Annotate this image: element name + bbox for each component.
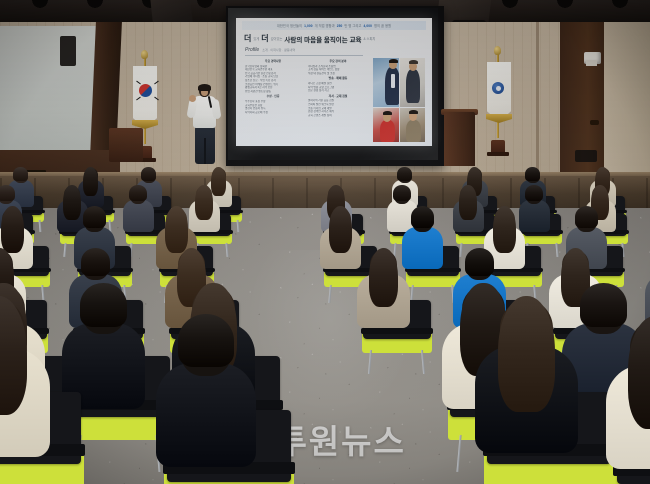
band-mid-2: 만 명 그리고 bbox=[344, 23, 361, 28]
band-mid-1: 개 직업 명함과 bbox=[315, 23, 335, 28]
column-b-line: 교육 콘텐츠 개발 참여 bbox=[308, 114, 368, 118]
audience-hair bbox=[580, 283, 626, 327]
audience-hair bbox=[498, 296, 555, 412]
presenter-hair bbox=[198, 84, 211, 91]
audience-torso bbox=[156, 363, 256, 467]
audience-hair bbox=[1, 206, 24, 252]
band-number-3: 4,000 bbox=[364, 24, 372, 28]
slide-title-a-note: 있게 bbox=[253, 36, 259, 41]
audience-hair bbox=[211, 167, 226, 196]
audience-hair bbox=[63, 185, 80, 220]
slide-title: 더 있게 더 깊이있는 사람의 마음을 움직이는 교육 & 스피치 bbox=[244, 32, 424, 45]
audience-torso bbox=[402, 227, 443, 270]
audience-hair bbox=[397, 167, 412, 181]
audience-torso bbox=[123, 200, 154, 232]
taeguk-symbol-icon bbox=[139, 84, 152, 97]
slide-column-left: 주요 경력사항 한국강사협회 정회원 대한민국 교육연수원 대표 전국 공공기관… bbox=[245, 58, 301, 114]
slide-divider bbox=[245, 55, 363, 56]
organization-emblem-icon bbox=[492, 82, 504, 94]
slide-header-band: 대한민국 청년들의 1,000 개 직업 명함과 250 만 명 그리고 4,0… bbox=[242, 21, 426, 30]
audience-hair bbox=[83, 167, 98, 196]
column-b-line: 신문 칼럼 정기 기고 bbox=[308, 89, 368, 93]
chair-rail bbox=[361, 328, 433, 334]
audience-hair bbox=[165, 206, 188, 252]
band-number-2: 250 bbox=[337, 24, 343, 28]
wall-seam-right bbox=[536, 22, 539, 172]
audience-hair bbox=[575, 206, 598, 228]
audience-hair bbox=[83, 206, 106, 228]
column-a-heading-2: 수상 · 인증 bbox=[245, 95, 301, 99]
audience-hair bbox=[465, 248, 494, 276]
audience-hair bbox=[329, 206, 352, 252]
side-table bbox=[109, 128, 143, 162]
column-a-line: 지역사회 공로패 수상 bbox=[245, 111, 301, 115]
slide-subhead-note: 소개 · 이력사항 · 활동내역 bbox=[262, 48, 295, 52]
audience-hair bbox=[129, 185, 146, 202]
slide-title-b-note: 깊이있는 bbox=[271, 36, 283, 41]
audience-hair bbox=[525, 167, 540, 181]
column-b-line: 직장 내 갈등관리 및 코칭 bbox=[308, 72, 368, 76]
speaker-icon-right bbox=[575, 150, 597, 162]
chair-leg bbox=[237, 220, 240, 232]
audience-hair bbox=[81, 248, 110, 276]
presenter-hand bbox=[189, 95, 196, 102]
slide-subhead-text: Profile bbox=[245, 47, 259, 53]
audience-hair bbox=[459, 185, 476, 220]
slide-photo-grid bbox=[373, 58, 425, 142]
audience-hair bbox=[13, 167, 28, 181]
band-number-1: 1,000 bbox=[304, 24, 312, 28]
presenter-leg-split bbox=[204, 138, 206, 164]
band-prefix: 대한민국 청년들의 bbox=[277, 23, 302, 28]
chair-leg bbox=[39, 220, 42, 232]
audience-hair bbox=[369, 248, 398, 307]
audience-hair bbox=[0, 185, 15, 202]
speaker-icon-left bbox=[60, 36, 76, 66]
audience-hair bbox=[141, 167, 156, 181]
column-b-heading: 주요 강의 분야 bbox=[308, 60, 368, 64]
flag-base-right bbox=[491, 140, 505, 156]
audience-torso bbox=[519, 200, 550, 232]
audience-hair bbox=[80, 283, 126, 327]
audience-hair bbox=[411, 206, 434, 228]
audience-hair bbox=[393, 185, 410, 202]
slide-title-a: 더 bbox=[244, 33, 251, 44]
slide-title-b: 더 bbox=[261, 33, 268, 44]
slide-photo-2 bbox=[400, 58, 426, 107]
slide-title-main: 사람의 마음을 움직이는 교육 bbox=[284, 34, 361, 44]
presentation-slide: 대한민국 청년들의 1,000 개 직업 명함과 250 만 명 그리고 4,0… bbox=[236, 18, 432, 146]
slide-subhead: Profile소개 · 이력사항 · 활동내역 bbox=[245, 47, 295, 53]
lectern bbox=[444, 112, 475, 166]
wall-mounted-device-icon bbox=[584, 52, 601, 64]
column-a-heading: 주요 경력사항 bbox=[245, 60, 301, 64]
lecture-hall-photo: 대한민국 청년들의 1,000 개 직업 명함과 250 만 명 그리고 4,0… bbox=[0, 0, 650, 484]
audience-hair bbox=[493, 206, 516, 252]
slide-photo-3 bbox=[373, 108, 399, 142]
slide-column-right: 주요 강의 분야 리더십과 조직문화 소통법 고객 감동 서비스 마인드 향상 … bbox=[308, 58, 368, 117]
slide-photo-4 bbox=[400, 108, 426, 142]
column-a-line: 취업 지원관 멘토링 활동 bbox=[245, 90, 301, 94]
audience-hair bbox=[525, 185, 542, 202]
slide-photo-1 bbox=[373, 58, 399, 107]
door-handle[interactable] bbox=[590, 120, 599, 125]
slide-title-main-note: & 스피치 bbox=[364, 36, 376, 41]
column-b-heading-2: 방송 · 매체 활동 bbox=[308, 77, 368, 81]
flag-finial-left bbox=[141, 50, 148, 59]
audience-hair bbox=[195, 185, 212, 220]
audience-hair bbox=[178, 314, 234, 367]
flag-finial-right bbox=[494, 46, 501, 55]
column-b-heading-3: 저서 · 교재 집필 bbox=[308, 95, 368, 99]
band-suffix: 명의 꿈 응원 bbox=[374, 23, 391, 28]
